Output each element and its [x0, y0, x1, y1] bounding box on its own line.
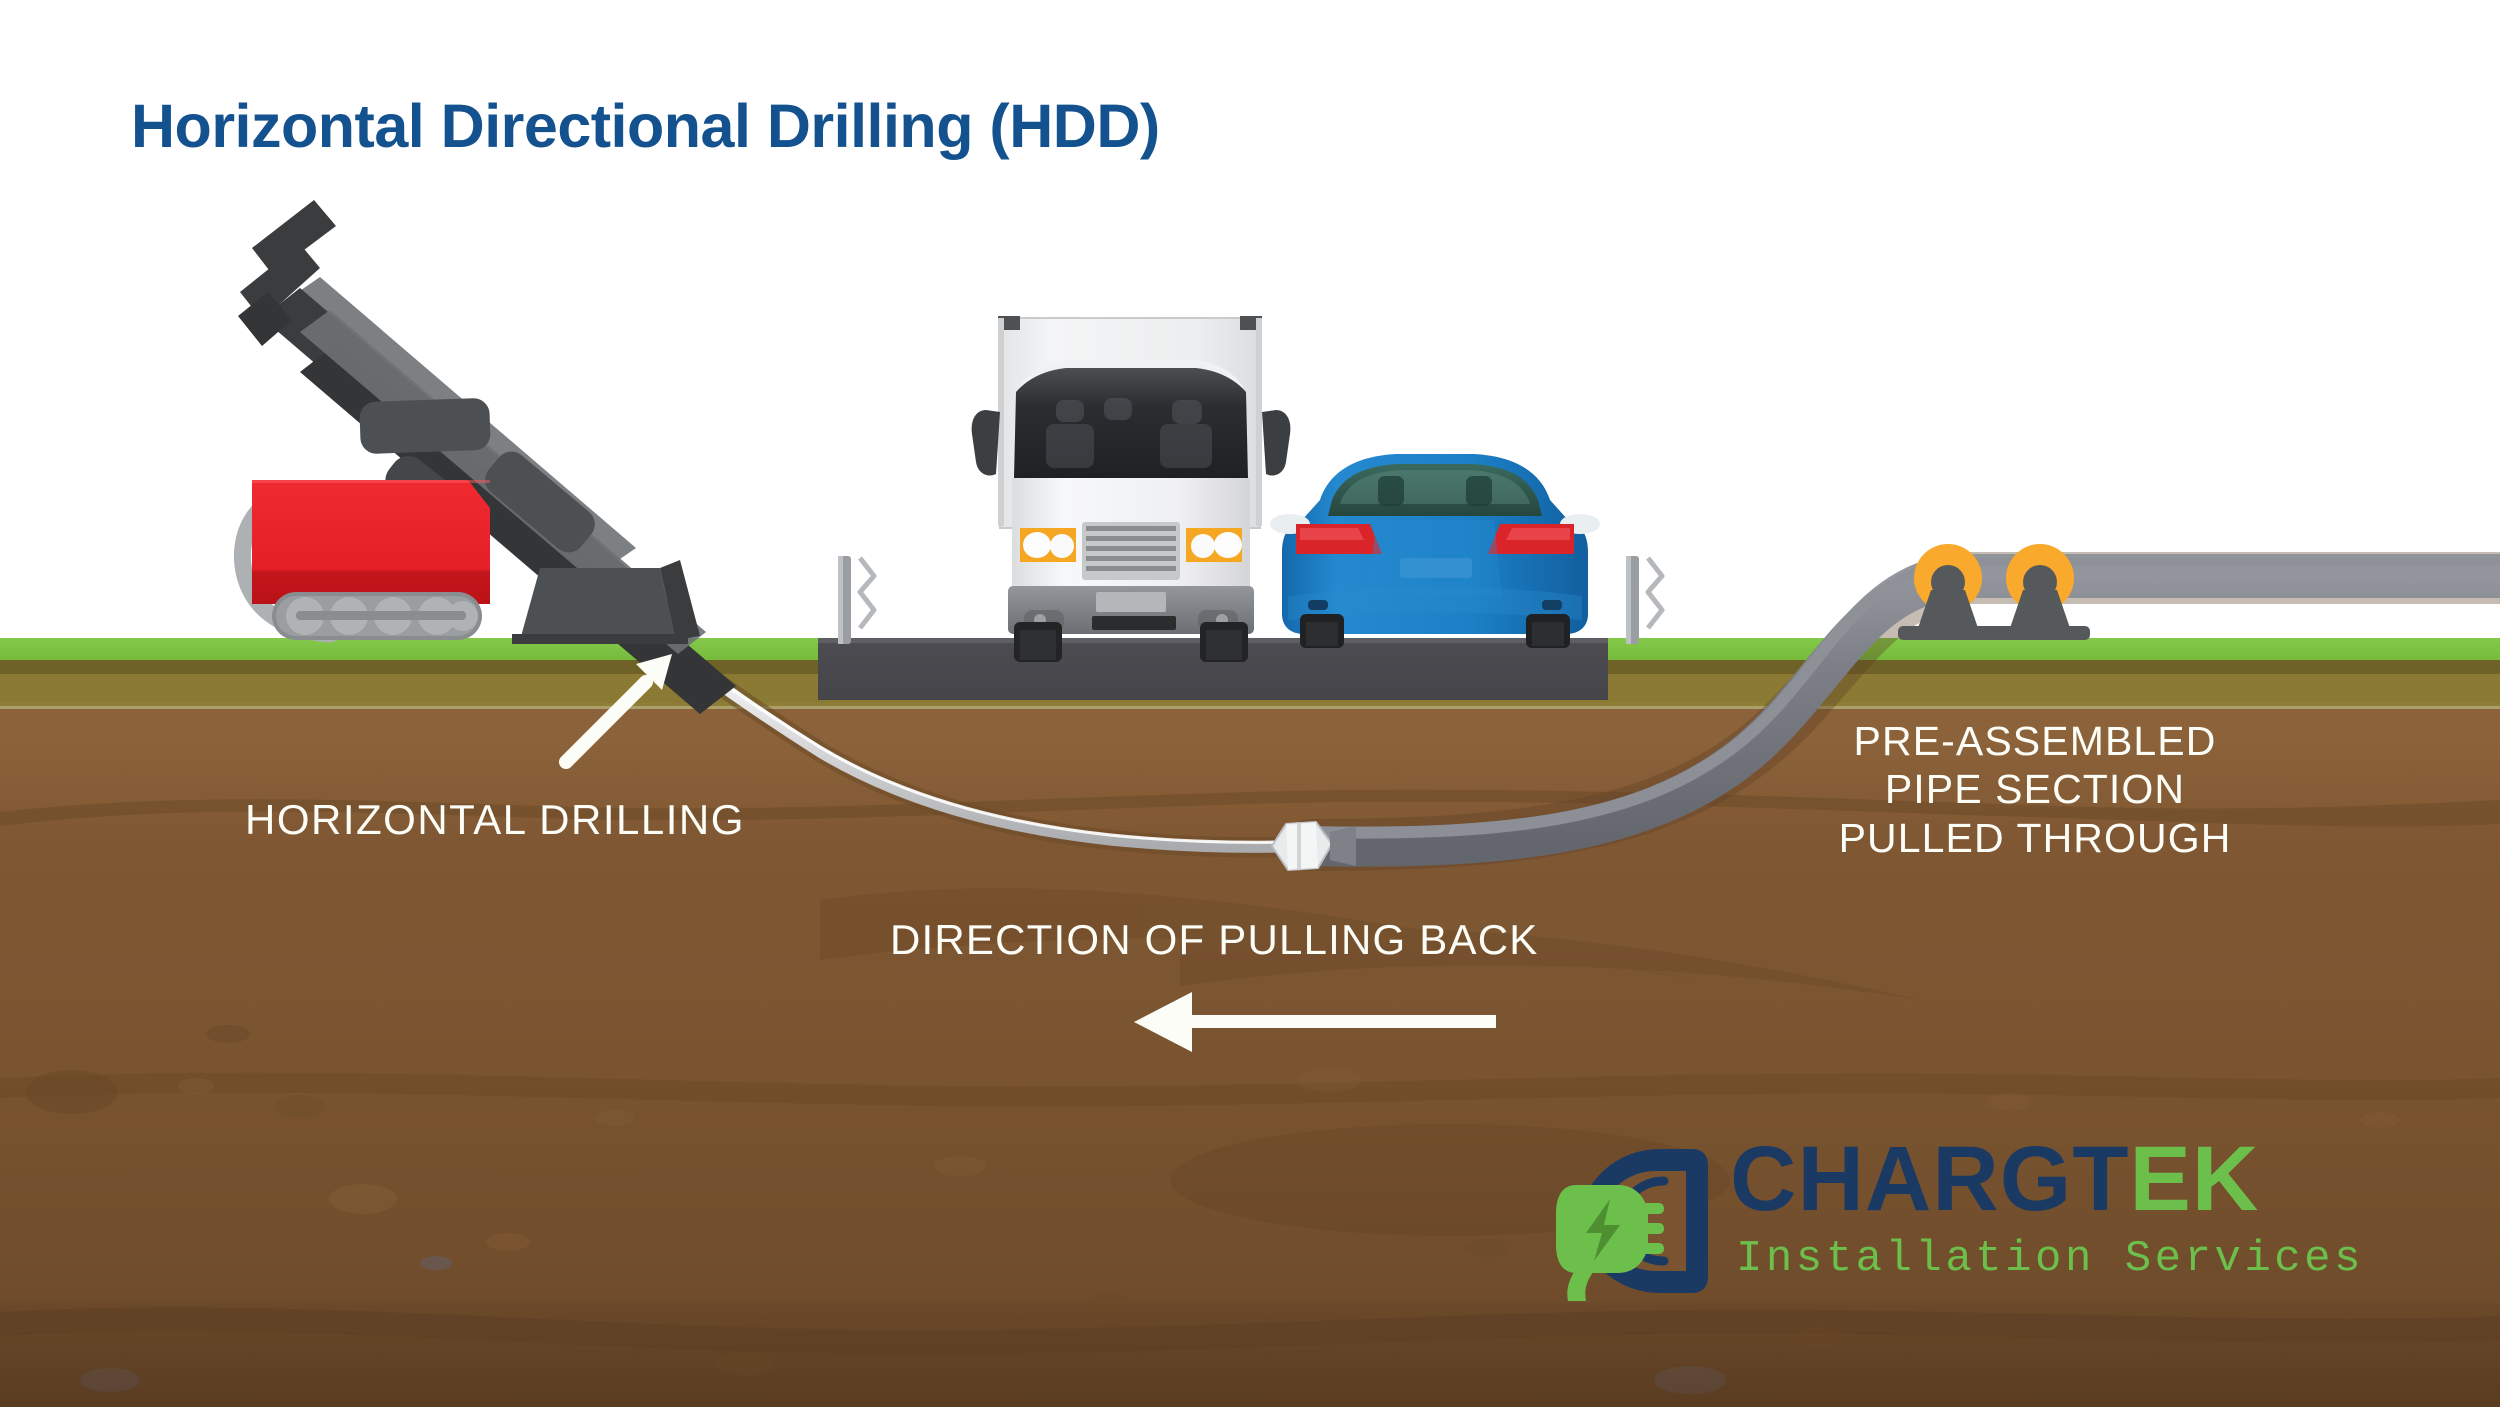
logo-word-part-1: CHARGT: [1730, 1128, 2130, 1230]
ev-charger-icon: [1552, 1141, 1722, 1301]
hdd-diagram-canvas: Horizontal Directional Drilling (HDD) HO…: [0, 0, 2500, 1407]
logo-wordmark: CHARGTEK: [1730, 1133, 2259, 1225]
chargtek-logo: CHARGTEK Installation Services: [1552, 1137, 2352, 1297]
pullback-arrow: [1134, 992, 1496, 1052]
logo-tagline: Installation Services: [1736, 1234, 2364, 1284]
entry-arrow: [566, 654, 672, 762]
label-horizontal-drilling: HORIZONTAL DRILLING: [245, 795, 745, 845]
logo-word-part-2: E: [2130, 1128, 2192, 1230]
label-direction-of-pulling-back: DIRECTION OF PULLING BACK: [890, 915, 1538, 965]
logo-word-part-3: K: [2192, 1128, 2259, 1230]
label-pre-assembled-pipe-section: PRE-ASSEMBLED PIPE SECTION PULLED THROUG…: [1795, 717, 2275, 862]
page-title: Horizontal Directional Drilling (HDD): [131, 96, 1160, 157]
